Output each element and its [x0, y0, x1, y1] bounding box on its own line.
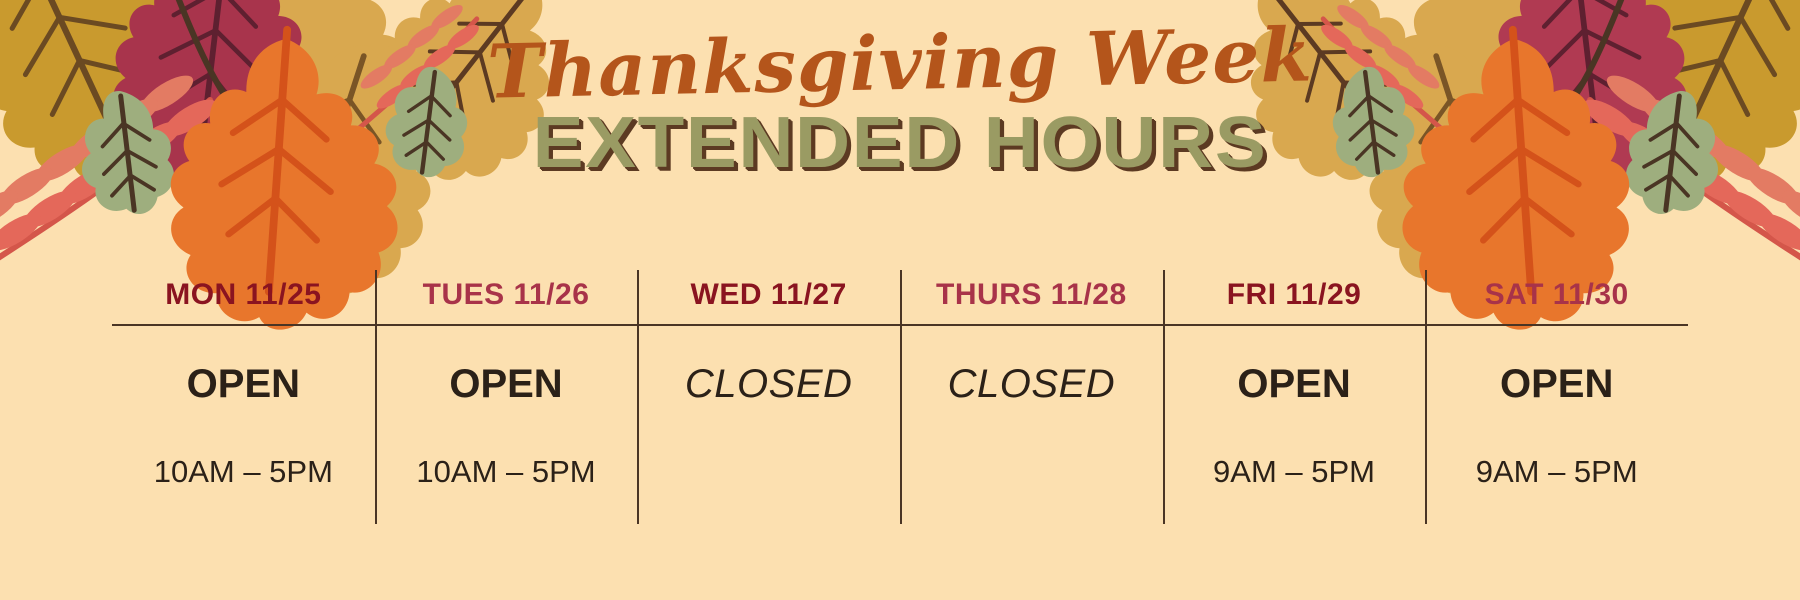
status-tues: OPEN — [375, 326, 638, 410]
hours-mon: 10AM – 5PM — [112, 410, 375, 498]
day-header-thurs: THURS 11/28 — [900, 278, 1163, 324]
day-column-thurs: THURS 11/28 CLOSED — [900, 278, 1163, 504]
day-column-sat: SAT 11/30 OPEN 9AM – 5PM — [1425, 278, 1688, 504]
hours-thurs — [900, 410, 1163, 498]
day-column-mon: MON 11/25 OPEN 10AM – 5PM — [112, 278, 375, 504]
day-column-wed: WED 11/27 CLOSED — [637, 278, 900, 504]
hours-sat: 9AM – 5PM — [1425, 410, 1688, 498]
thanksgiving-hours-banner: Thanksgiving Week EXTENDED HOURS MON 11/… — [0, 0, 1800, 600]
page-title: EXTENDED HOURS — [0, 107, 1800, 180]
status-thurs: CLOSED — [900, 326, 1163, 410]
status-sat: OPEN — [1425, 326, 1688, 410]
hours-table: MON 11/25 OPEN 10AM – 5PM TUES 11/26 OPE… — [112, 278, 1688, 504]
day-header-tues: TUES 11/26 — [375, 278, 638, 324]
day-column-tues: TUES 11/26 OPEN 10AM – 5PM — [375, 278, 638, 504]
status-fri: OPEN — [1163, 326, 1426, 410]
day-header-wed: WED 11/27 — [637, 278, 900, 324]
day-header-fri: FRI 11/29 — [1163, 278, 1426, 324]
hours-tues: 10AM – 5PM — [375, 410, 638, 498]
headline-group: Thanksgiving Week EXTENDED HOURS — [0, 28, 1800, 180]
hours-wed — [637, 410, 900, 498]
status-wed: CLOSED — [637, 326, 900, 410]
status-mon: OPEN — [112, 326, 375, 410]
hours-fri: 9AM – 5PM — [1163, 410, 1426, 498]
day-column-fri: FRI 11/29 OPEN 9AM – 5PM — [1163, 278, 1426, 504]
day-header-sat: SAT 11/30 — [1425, 278, 1688, 324]
day-header-mon: MON 11/25 — [112, 278, 375, 324]
